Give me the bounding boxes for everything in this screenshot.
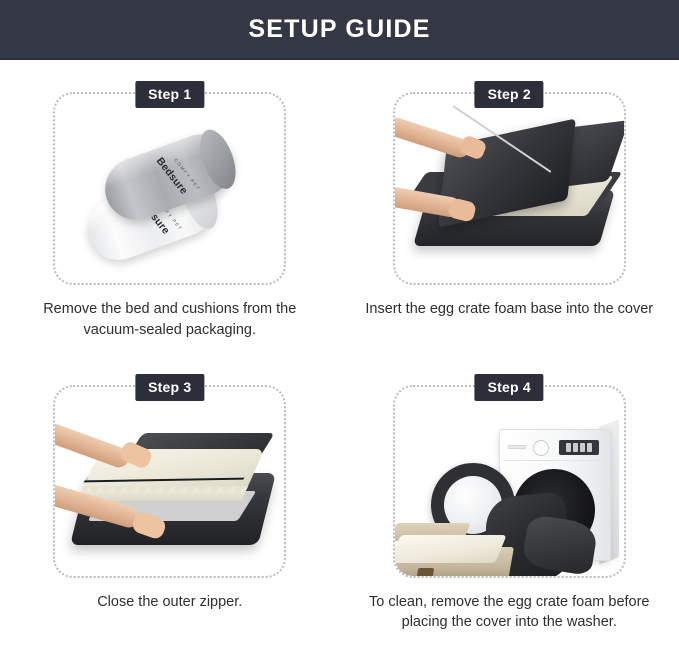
step-card-4: Step 4 bbox=[393, 385, 626, 578]
page-title: SETUP GUIDE bbox=[248, 15, 430, 44]
step-illustration-3 bbox=[55, 387, 284, 576]
display-segment-icon bbox=[573, 443, 578, 452]
header-bar: SETUP GUIDE bbox=[0, 0, 679, 60]
step-badge-3: Step 3 bbox=[135, 374, 204, 401]
step-caption-4: To clean, remove the egg crate foam befo… bbox=[359, 592, 659, 633]
step-card-1: Step 1 Bedsure COMFY PET Bedsure COMFY P… bbox=[53, 92, 286, 285]
step-badge-4: Step 4 bbox=[475, 374, 544, 401]
step-badge-1: Step 1 bbox=[135, 81, 204, 108]
step-illustration-4 bbox=[395, 387, 624, 576]
step-cell-1: Step 1 Bedsure COMFY PET Bedsure COMFY P… bbox=[0, 62, 340, 355]
setup-guide-page: SETUP GUIDE Step 1 Bedsure COMFY PET Bed… bbox=[0, 0, 679, 647]
washer-dial-icon bbox=[533, 440, 549, 456]
step-cell-2: Step 2 Insert the egg crate foam base in… bbox=[340, 62, 679, 355]
step-caption-2: Insert the egg crate foam base into the … bbox=[359, 299, 659, 320]
step-cell-3: Step 3 Close the outer zipper. bbox=[0, 355, 340, 647]
step-card-3: Step 3 bbox=[53, 385, 286, 578]
washer-control-panel-icon bbox=[503, 433, 607, 461]
step-illustration-2 bbox=[395, 94, 624, 283]
step-badge-2: Step 2 bbox=[475, 81, 544, 108]
step-card-2: Step 2 bbox=[393, 92, 626, 285]
washer-display-icon bbox=[559, 440, 599, 455]
step-illustration-1: Bedsure COMFY PET Bedsure COMFY PET bbox=[55, 94, 284, 283]
steps-grid: Step 1 Bedsure COMFY PET Bedsure COMFY P… bbox=[0, 62, 679, 647]
step-cell-4: Step 4 bbox=[340, 355, 679, 647]
display-segment-icon bbox=[587, 443, 592, 452]
arm-upper-icon bbox=[395, 115, 472, 160]
display-segment-icon bbox=[566, 443, 571, 452]
roll-end-cap-icon bbox=[193, 125, 242, 194]
pet-bed-icon bbox=[395, 523, 511, 576]
display-segment-icon bbox=[580, 443, 585, 452]
step-caption-3: Close the outer zipper. bbox=[20, 592, 320, 613]
pet-bed-logo-tag-icon bbox=[416, 568, 434, 576]
pet-bed-cushion-icon bbox=[395, 535, 507, 563]
step-caption-1: Remove the bed and cushions from the vac… bbox=[20, 299, 320, 340]
detergent-drawer-icon bbox=[508, 445, 526, 449]
